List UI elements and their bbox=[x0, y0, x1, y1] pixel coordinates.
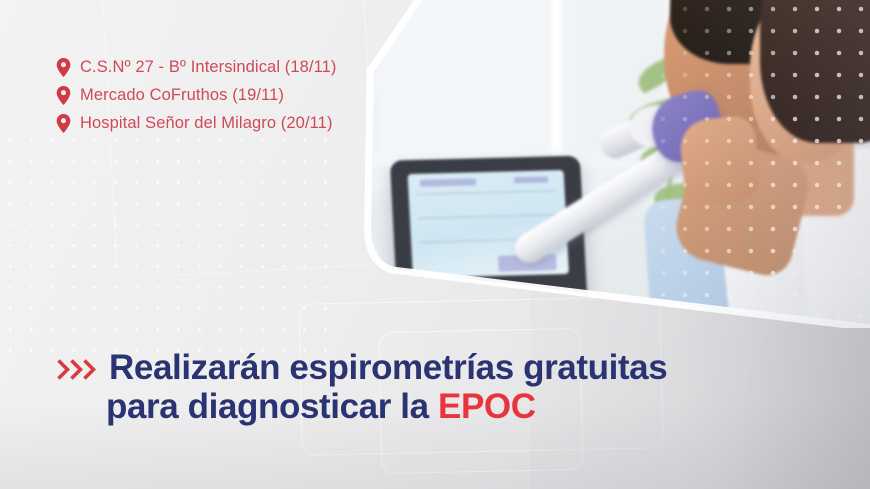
map-pin-icon bbox=[56, 86, 71, 105]
background-dot-grid-left bbox=[0, 130, 330, 360]
list-item: C.S.Nº 27 - Bº Intersindical (18/11) bbox=[56, 54, 337, 80]
location-label: C.S.Nº 27 - Bº Intersindical (18/11) bbox=[80, 58, 337, 77]
locations-list: C.S.Nº 27 - Bº Intersindical (18/11) Mer… bbox=[56, 54, 337, 138]
headline-block: Realizarán espirometrías gratuitas para … bbox=[57, 348, 777, 427]
headline-line-1: Realizarán espirometrías gratuitas bbox=[57, 348, 777, 389]
headline-subject: para diagnosticar la EPOC bbox=[106, 387, 536, 426]
location-label: Hospital Señor del Milagro (20/11) bbox=[80, 114, 333, 133]
headline-prefix: para diagnosticar la bbox=[106, 387, 438, 426]
headline-line-2: para diagnosticar la EPOC bbox=[106, 387, 777, 428]
headline-highlight: EPOC bbox=[438, 387, 536, 426]
window-pane bbox=[382, 0, 552, 168]
banner-graphic: C.S.Nº 27 - Bº Intersindical (18/11) Mer… bbox=[0, 0, 870, 489]
location-label: Mercado CoFruthos (19/11) bbox=[80, 86, 284, 105]
page-title: Realizarán espirometrías gratuitas bbox=[109, 348, 667, 389]
list-item: Mercado CoFruthos (19/11) bbox=[56, 82, 337, 108]
map-pin-icon bbox=[56, 114, 71, 133]
double-chevron-right-icon bbox=[57, 359, 96, 380]
map-pin-icon bbox=[56, 58, 71, 77]
photo-dot-grid-overlay bbox=[652, 0, 870, 328]
list-item: Hospital Señor del Milagro (20/11) bbox=[56, 110, 337, 136]
